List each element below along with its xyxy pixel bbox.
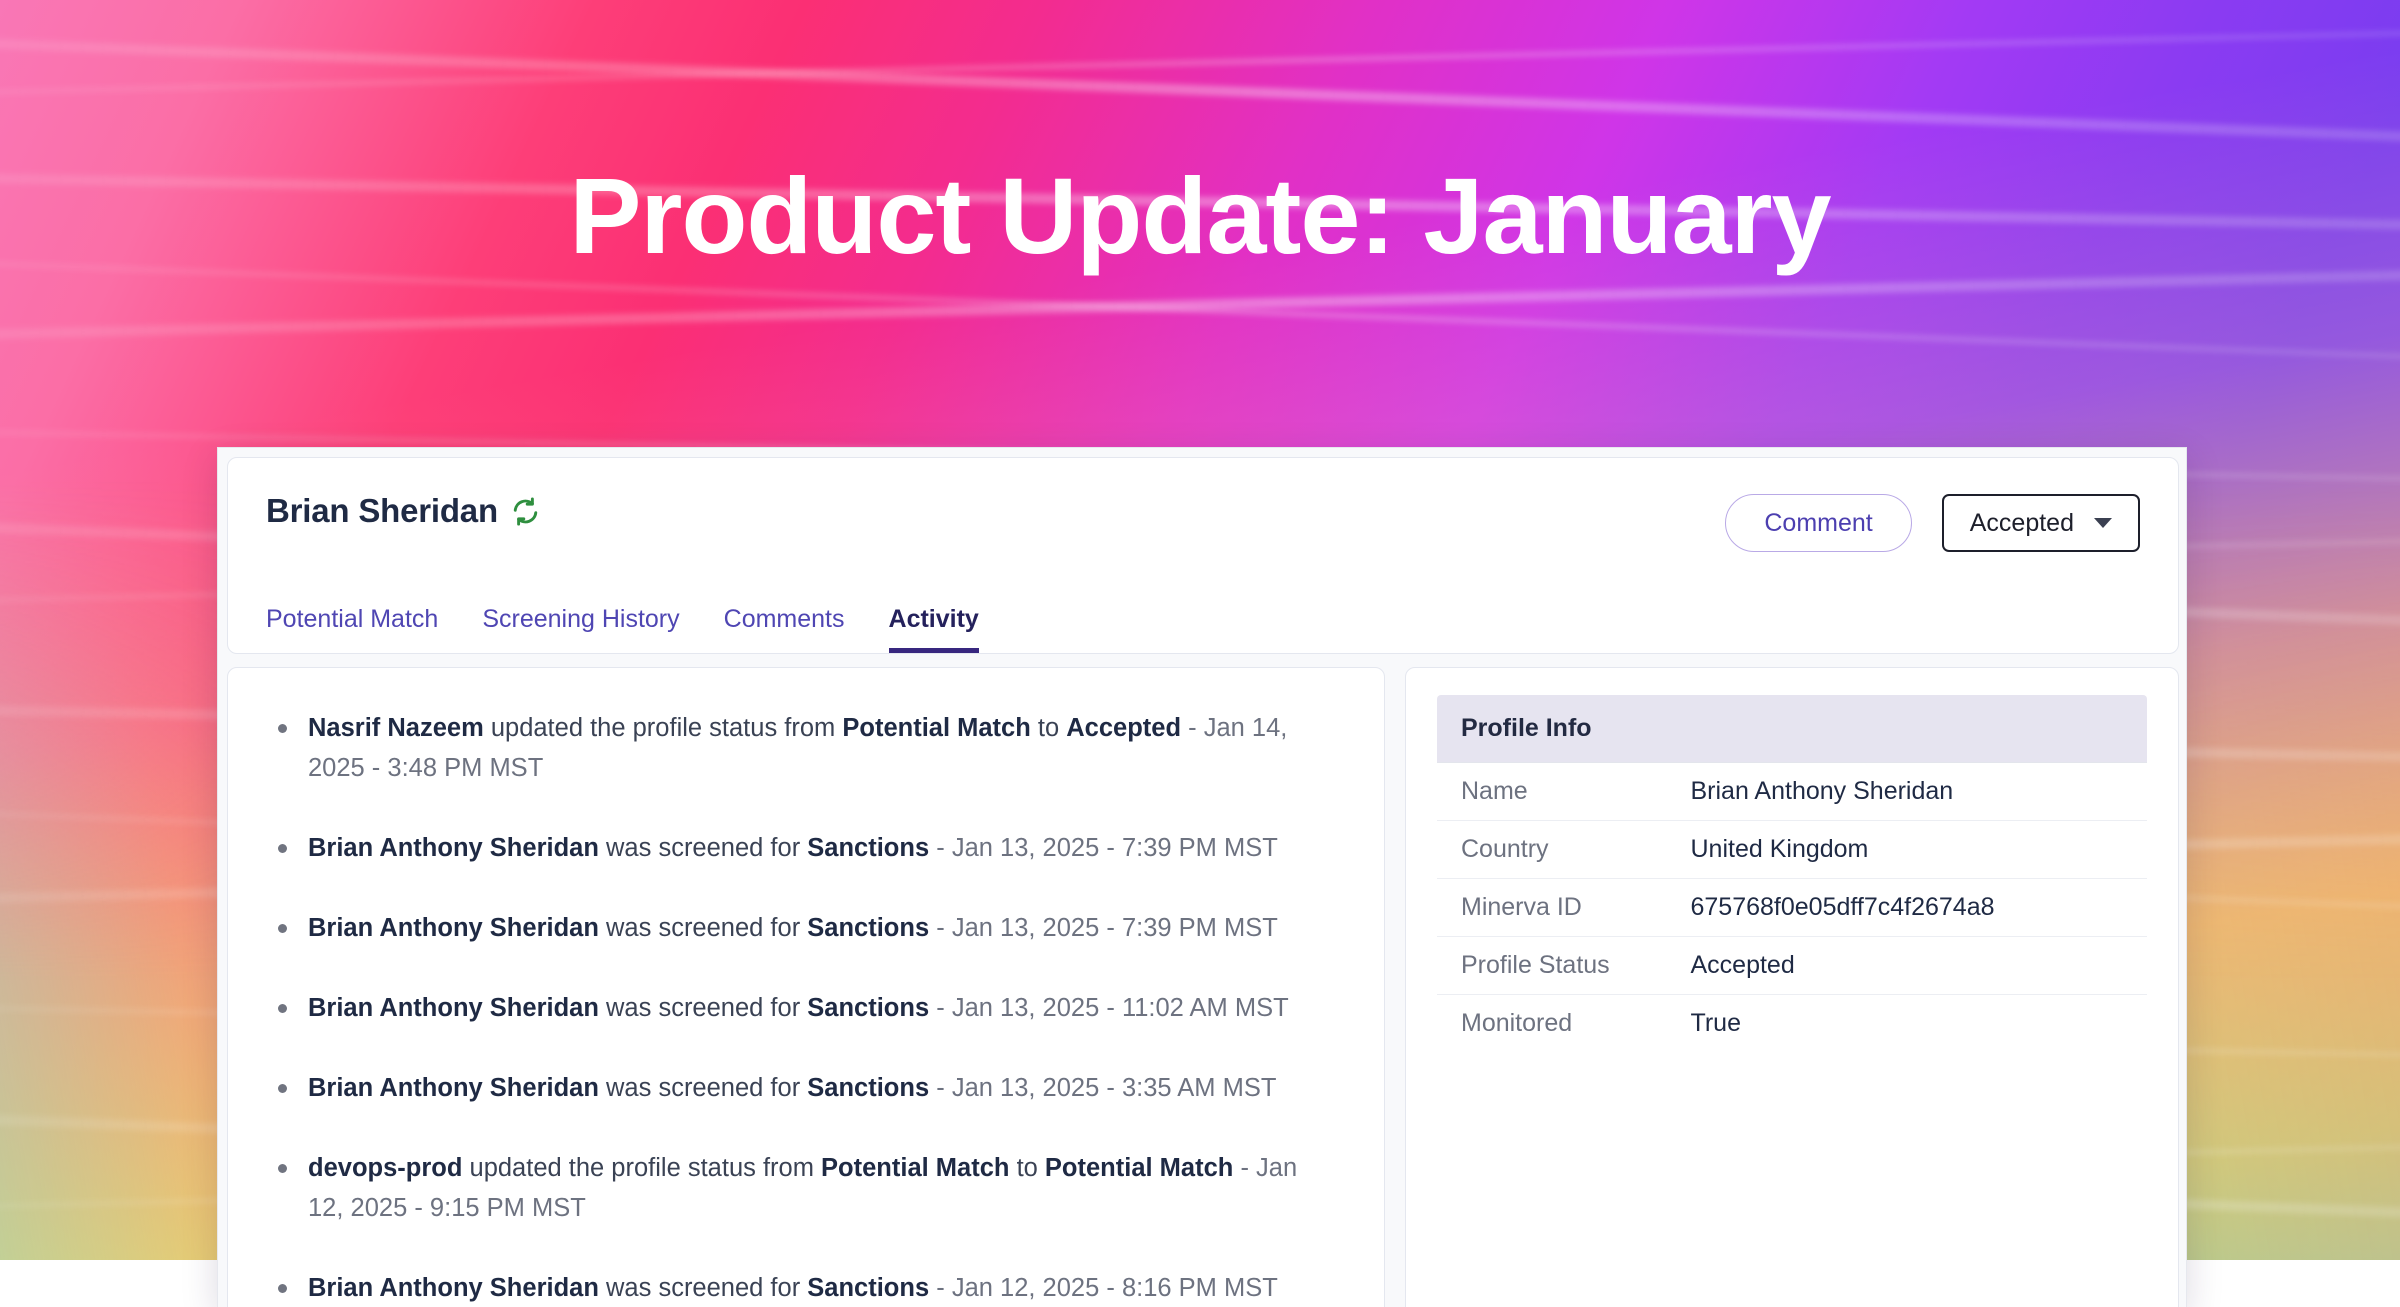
activity-item: Brian Anthony Sheridan was screened for … xyxy=(274,1068,1338,1108)
tab-activity[interactable]: Activity xyxy=(889,605,979,653)
profile-info-value: United Kingdom xyxy=(1667,821,2148,879)
activity-timestamp: - Jan 13, 2025 - 7:39 PM MST xyxy=(929,914,1278,942)
profile-info-label: Name xyxy=(1437,763,1667,821)
activity-timestamp: - Jan 13, 2025 - 11:02 AM MST xyxy=(929,994,1289,1022)
activity-actor: Brian Anthony Sheridan xyxy=(308,914,599,942)
profile-info-row: NameBrian Anthony Sheridan xyxy=(1437,763,2148,821)
activity-actor: Brian Anthony Sheridan xyxy=(308,1274,599,1302)
refresh-sync-icon[interactable] xyxy=(511,497,540,526)
activity-highlight: Potential Match xyxy=(1045,1154,1233,1182)
activity-timestamp: - Jan 13, 2025 - 3:35 AM MST xyxy=(929,1074,1276,1102)
profile-info-row: Minerva ID675768f0e05dff7c4f2674a8 xyxy=(1437,879,2148,937)
header-actions: Comment Accepted xyxy=(1725,494,2140,552)
activity-text: was screened for xyxy=(599,914,807,942)
profile-tabs: Potential Match Screening History Commen… xyxy=(266,591,979,653)
activity-highlight: Sanctions xyxy=(807,994,929,1022)
activity-text: was screened for xyxy=(599,834,807,862)
profile-info-value: Brian Anthony Sheridan xyxy=(1667,763,2148,821)
activity-highlight: Sanctions xyxy=(807,1074,929,1102)
tab-screening-history[interactable]: Screening History xyxy=(482,605,679,653)
activity-highlight: Accepted xyxy=(1066,714,1181,742)
activity-item: Nasrif Nazeem updated the profile status… xyxy=(274,708,1338,788)
profile-info-row: CountryUnited Kingdom xyxy=(1437,821,2148,879)
activity-item: devops-prod updated the profile status f… xyxy=(274,1148,1338,1228)
activity-text: was screened for xyxy=(599,1274,807,1302)
activity-list: Nasrif Nazeem updated the profile status… xyxy=(274,708,1338,1307)
activity-actor: devops-prod xyxy=(308,1154,462,1182)
profile-info-row: Profile StatusAccepted xyxy=(1437,937,2148,995)
profile-info-label: Country xyxy=(1437,821,1667,879)
profile-info-table: Profile Info NameBrian Anthony SheridanC… xyxy=(1436,694,2148,1053)
profile-info-title: Profile Info xyxy=(1436,694,2148,762)
status-dropdown-label: Accepted xyxy=(1970,509,2074,538)
profile-info-value: Accepted xyxy=(1667,937,2148,995)
activity-highlight: Sanctions xyxy=(807,914,929,942)
tab-potential-match[interactable]: Potential Match xyxy=(266,605,438,653)
profile-info-value: True xyxy=(1667,995,2148,1053)
page-title: Product Update: January xyxy=(0,0,2400,430)
activity-actor: Brian Anthony Sheridan xyxy=(308,994,599,1022)
chevron-down-icon xyxy=(2094,518,2112,528)
activity-actor: Brian Anthony Sheridan xyxy=(308,834,599,862)
profile-info-label: Monitored xyxy=(1437,995,1667,1053)
activity-item: Brian Anthony Sheridan was screened for … xyxy=(274,1268,1338,1307)
activity-highlight: Sanctions xyxy=(807,834,929,862)
activity-timestamp: - Jan 12, 2025 - 8:16 PM MST xyxy=(929,1274,1278,1302)
profile-name-group: Brian Sheridan xyxy=(266,492,540,530)
app-window: Brian Sheridan Comment Accepted xyxy=(217,447,2187,1307)
activity-actor: Brian Anthony Sheridan xyxy=(308,1074,599,1102)
activity-text: was screened for xyxy=(599,994,807,1022)
activity-highlight: Sanctions xyxy=(807,1274,929,1302)
activity-item: Brian Anthony Sheridan was screened for … xyxy=(274,988,1338,1028)
activity-text: was screened for xyxy=(599,1074,807,1102)
profile-header-card: Brian Sheridan Comment Accepted xyxy=(227,457,2179,654)
profile-info-value: 675768f0e05dff7c4f2674a8 xyxy=(1667,879,2148,937)
status-dropdown[interactable]: Accepted xyxy=(1942,494,2140,552)
tab-comments[interactable]: Comments xyxy=(724,605,845,653)
comment-button[interactable]: Comment xyxy=(1725,494,1911,552)
profile-header-row: Brian Sheridan Comment Accepted xyxy=(266,492,2140,552)
activity-text: to xyxy=(1009,1154,1044,1182)
activity-text: to xyxy=(1031,714,1066,742)
activity-highlight: Potential Match xyxy=(842,714,1030,742)
activity-card: Nasrif Nazeem updated the profile status… xyxy=(227,667,1385,1307)
profile-info-label: Minerva ID xyxy=(1437,879,1667,937)
activity-highlight: Potential Match xyxy=(821,1154,1009,1182)
profile-info-card: Profile Info NameBrian Anthony SheridanC… xyxy=(1405,667,2179,1307)
activity-actor: Nasrif Nazeem xyxy=(308,714,484,742)
activity-item: Brian Anthony Sheridan was screened for … xyxy=(274,908,1338,948)
profile-info-label: Profile Status xyxy=(1437,937,1667,995)
activity-item: Brian Anthony Sheridan was screened for … xyxy=(274,828,1338,868)
profile-name: Brian Sheridan xyxy=(266,492,498,530)
activity-text: updated the profile status from xyxy=(484,714,843,742)
activity-timestamp: - Jan 13, 2025 - 7:39 PM MST xyxy=(929,834,1278,862)
activity-text: updated the profile status from xyxy=(462,1154,821,1182)
profile-info-row: MonitoredTrue xyxy=(1437,995,2148,1053)
